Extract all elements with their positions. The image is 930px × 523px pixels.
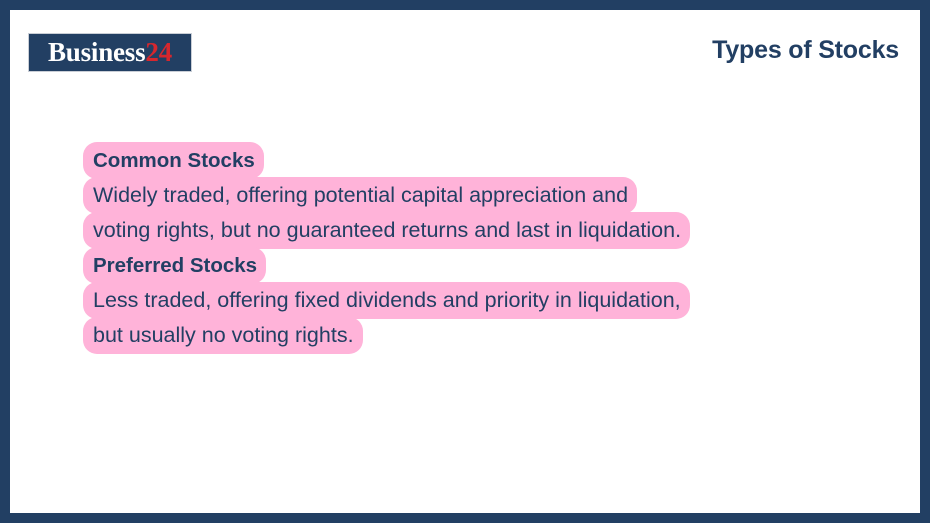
page-title: Types of Stocks <box>712 36 899 65</box>
list-item: Less traded, offering fixed dividends an… <box>83 282 690 319</box>
list-item: but usually no voting rights. <box>83 317 363 354</box>
logo-number: 24 <box>145 37 172 67</box>
list-item: Widely traded, offering potential capita… <box>83 177 637 214</box>
list-item: Preferred Stocks <box>83 247 266 284</box>
slide-canvas: Business24 Types of Stocks Common Stocks… <box>10 10 920 513</box>
brand-logo: Business24 <box>28 33 192 72</box>
highlighted-text-block: Common Stocks Widely traded, offering po… <box>83 142 863 354</box>
slide-frame: Business24 Types of Stocks Common Stocks… <box>0 0 930 523</box>
list-item: Common Stocks <box>83 142 264 179</box>
logo-word: Business <box>48 37 145 67</box>
logo-text: Business24 <box>48 39 172 66</box>
list-item: voting rights, but no guaranteed returns… <box>83 212 690 249</box>
